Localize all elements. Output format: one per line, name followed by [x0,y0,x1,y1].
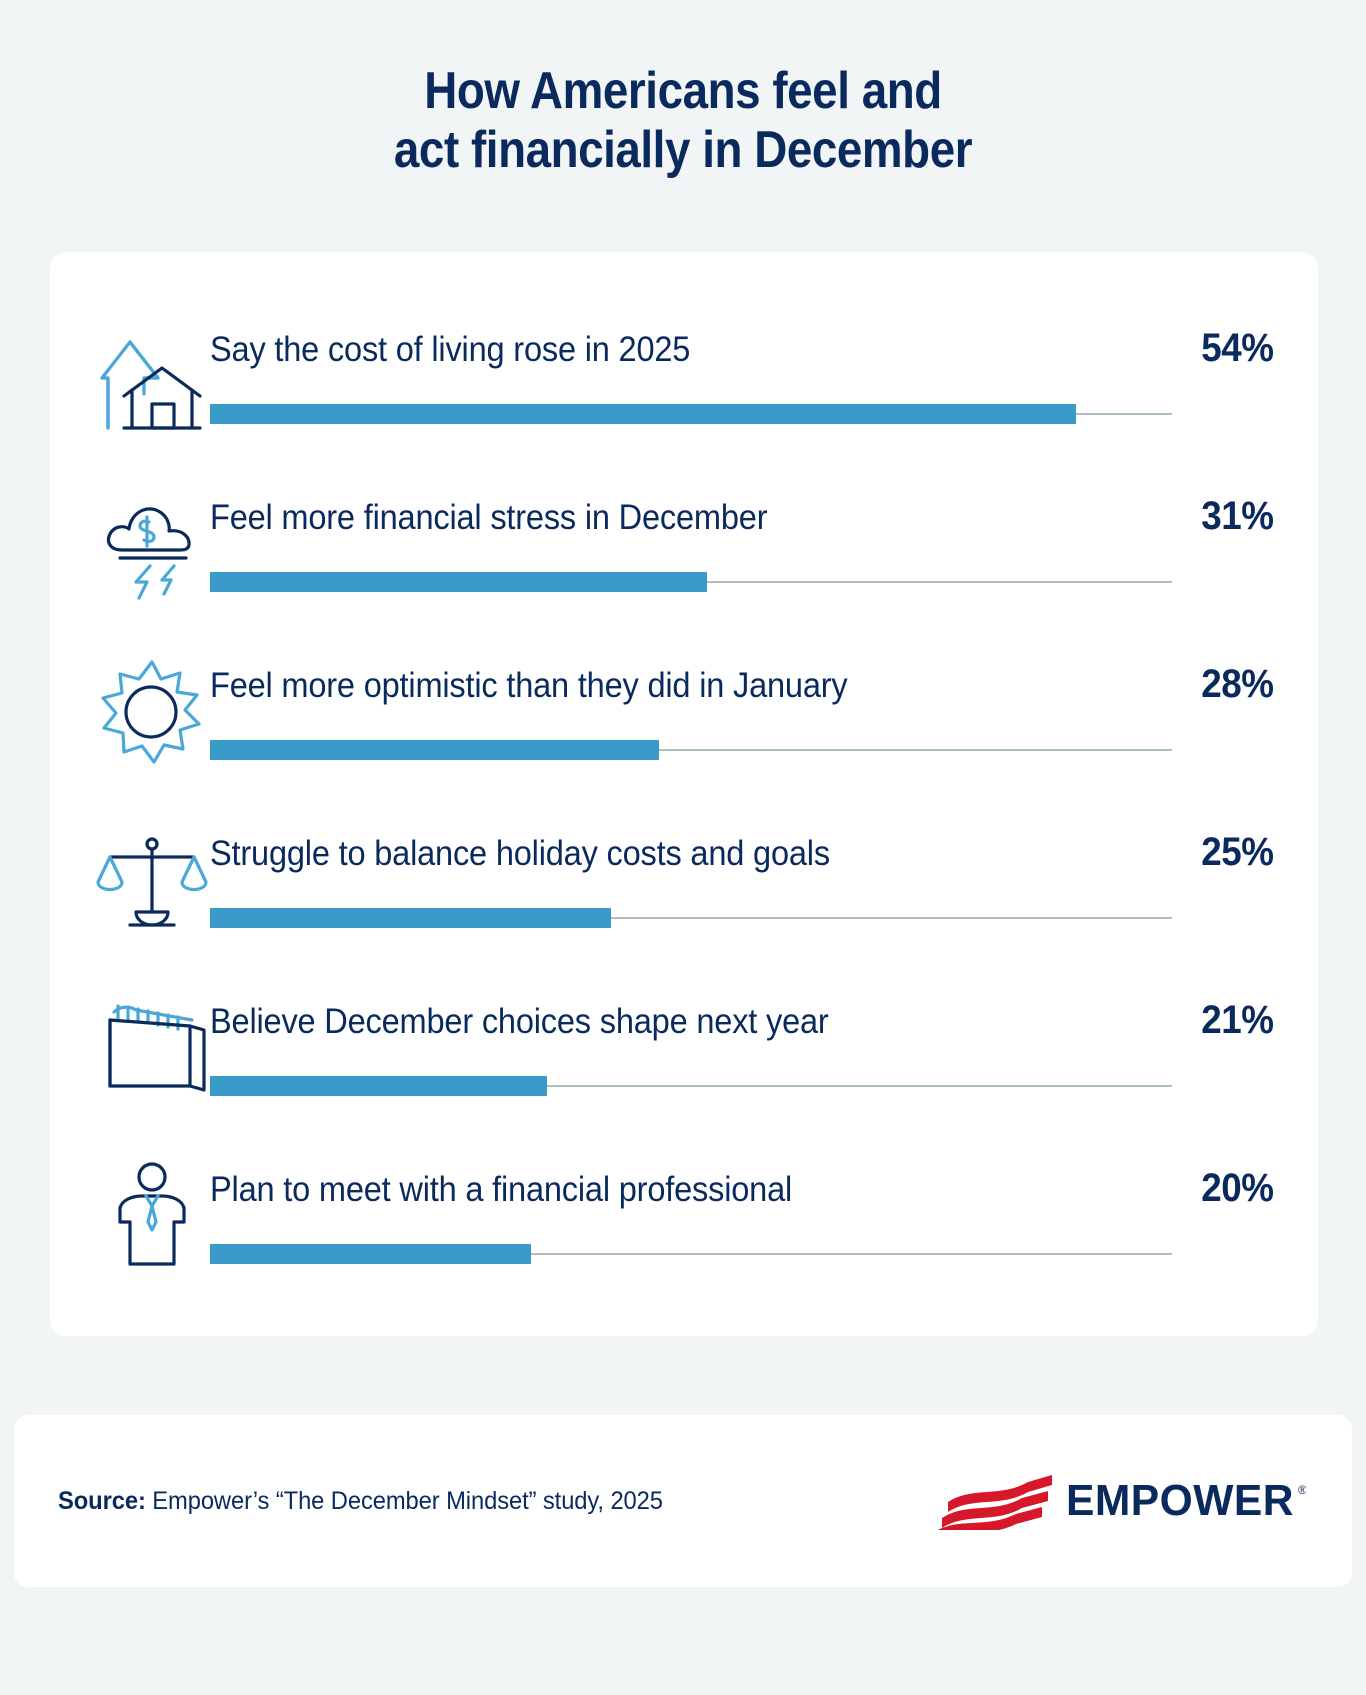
stat-value: 25% [1202,830,1274,875]
sun-icon [92,652,212,772]
stat-bar-fill [210,572,707,592]
source-label: Source: [58,1487,146,1515]
stat-label: Say the cost of living rose in 2025 [210,330,690,370]
stat-bar-track [210,404,1172,424]
empower-logo: EMPOWER ® [938,1472,1306,1530]
stat-bar-fill [210,1076,547,1096]
stat-value: 54% [1202,326,1274,371]
empower-wordmark: EMPOWER ® [1066,1478,1306,1524]
stat-bar-fill [210,404,1076,424]
calendar-icon [92,988,212,1108]
stat-label: Feel more financial stress in December [210,498,767,538]
cloud-dollar-storm-icon [92,484,212,604]
stat-label: Struggle to balance holiday costs and go… [210,834,830,874]
balance-scale-icon [92,820,212,940]
house-arrow-icon [92,316,212,436]
stat-value: 28% [1202,662,1274,707]
source-credit: Source: Empower’s “The December Mindset”… [58,1487,663,1516]
stat-label: Plan to meet with a financial profession… [210,1170,792,1210]
infographic-page: How Americans feel and act financially i… [0,0,1366,1695]
stat-row: Struggle to balance holiday costs and go… [50,812,1318,980]
stat-row: Say the cost of living rose in 2025 54% [50,308,1318,476]
page-title: How Americans feel and act financially i… [82,0,1284,181]
stat-row: Feel more financial stress in December 3… [50,476,1318,644]
source-text: Empower’s “The December Mindset” study, … [146,1487,663,1515]
stat-value: 20% [1202,1166,1274,1211]
wave-mark-icon [938,1472,1056,1530]
stat-label: Believe December choices shape next year [210,1002,829,1042]
page-title-line-2: act financially in December [82,121,1284,180]
svg-text:®: ® [1298,1483,1306,1497]
footer-bar: Source: Empower’s “The December Mindset”… [14,1415,1352,1587]
stat-bar-track [210,908,1172,928]
stat-bar-track [210,740,1172,760]
page-title-line-1: How Americans feel and [82,62,1284,121]
stat-bar-fill [210,908,611,928]
svg-text:EMPOWER: EMPOWER [1066,1478,1294,1524]
stat-bar-track [210,572,1172,592]
stats-card: Say the cost of living rose in 2025 54% … [50,252,1318,1336]
stat-bar-fill [210,740,659,760]
stat-label: Feel more optimistic than they did in Ja… [210,666,848,706]
person-tie-icon [92,1156,212,1276]
stat-row: Plan to meet with a financial profession… [50,1148,1318,1316]
stat-value: 31% [1202,494,1274,539]
stat-bar-track [210,1076,1172,1096]
stat-bar-fill [210,1244,531,1264]
stat-row: Feel more optimistic than they did in Ja… [50,644,1318,812]
stat-value: 21% [1202,998,1274,1043]
stats-row-list: Say the cost of living rose in 2025 54% … [50,252,1318,1316]
stat-bar-track [210,1244,1172,1264]
stat-row: Believe December choices shape next year… [50,980,1318,1148]
